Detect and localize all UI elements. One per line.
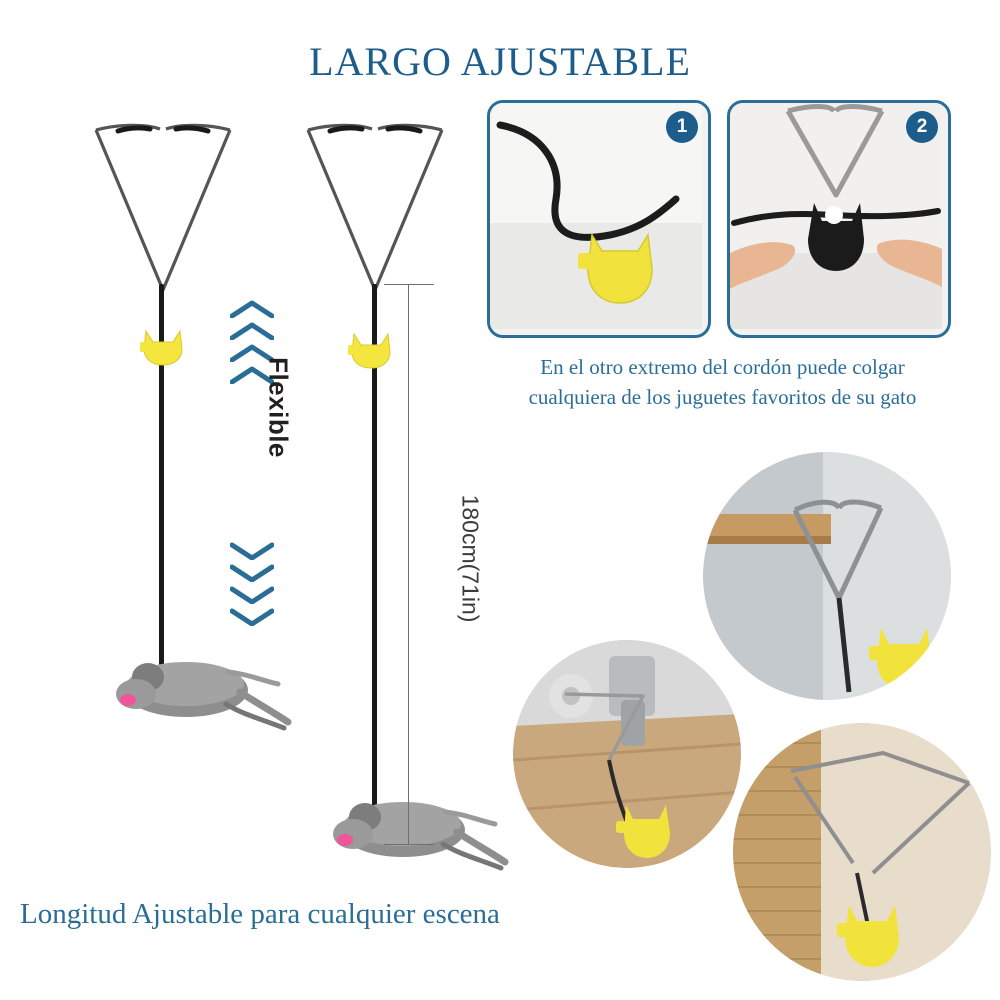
circle-photo-chair-leg: [513, 640, 741, 868]
step-2-photo-panel: 2: [727, 100, 951, 338]
bottom-caption: Longitud Ajustable para cualquier escena: [20, 898, 500, 931]
chevron-down-icon: [230, 564, 274, 582]
circle-photo-door-frame: [703, 452, 951, 700]
plush-mouse-toy-left: [108, 652, 298, 737]
measurement-line: [408, 284, 409, 844]
chevron-down-icon: [230, 586, 274, 604]
chevron-down-icon: [230, 542, 274, 560]
flexible-label: Flexible: [263, 328, 294, 488]
step-badge-2: 2: [906, 111, 938, 143]
measurement-label: 180cm(71in): [457, 444, 484, 674]
panel-caption-line-1: En el otro extremo del cordón puede colg…: [455, 352, 990, 382]
measurement-cap-bottom: [384, 844, 434, 845]
chevron-down-icon: [230, 608, 274, 626]
step-badge-1: 1: [666, 111, 698, 143]
circle-photo-scratching-post: [733, 723, 991, 981]
panel-caption: En el otro extremo del cordón puede colg…: [455, 352, 990, 412]
yellow-cat-head-clip-left: [140, 325, 186, 369]
chevron-up-icon: [230, 300, 274, 318]
measurement-cap-top: [384, 284, 434, 285]
product-infographic: LARGO AJUSTABLE: [0, 0, 1000, 1000]
wire-triangle-frame-right: [300, 122, 450, 297]
yellow-cat-head-clip-right: [348, 328, 394, 372]
wire-triangle-frame-left: [88, 122, 238, 297]
page-title: LARGO AJUSTABLE: [0, 38, 1000, 85]
plush-mouse-toy-right: [325, 792, 515, 877]
step-1-photo-panel: 1: [487, 100, 711, 338]
panel-caption-line-2: cualquiera de los juguetes favoritos de …: [455, 382, 990, 412]
flexible-indicator: Flexible: [222, 300, 282, 640]
